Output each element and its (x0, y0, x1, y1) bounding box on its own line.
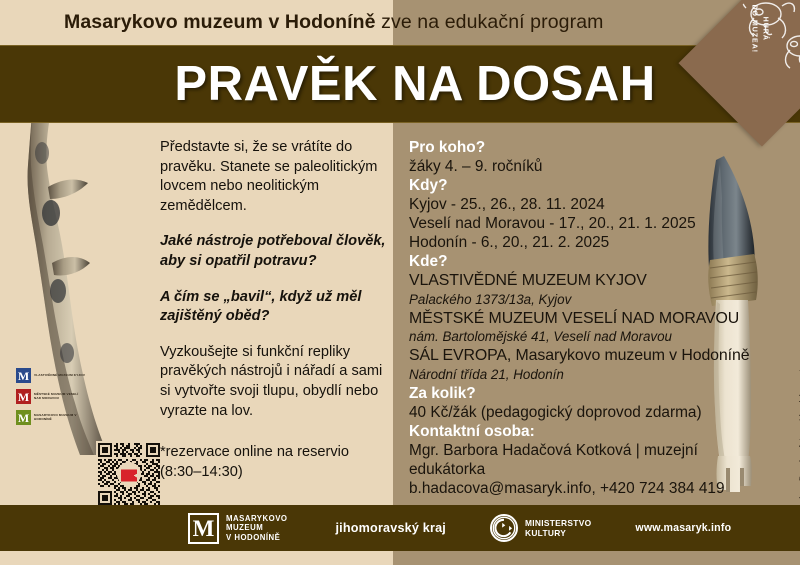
poster: Masarykovo muzeum v Hodoníně zve na eduk… (0, 0, 800, 565)
contact-details: b.hadacova@masaryk.info, +420 724 384 41… (409, 479, 761, 498)
qr-code[interactable] (96, 441, 162, 507)
label-price: Za kolik? (409, 384, 761, 403)
ministry-name: MINISTERSTVO KULTURY (525, 518, 591, 538)
value-price: 40 Kč/žák (pedagogický doprovod zdarma) (409, 403, 761, 422)
info-column: Pro koho? žáky 4. – 9. ročníků Kdy? Kyjo… (409, 138, 761, 498)
label-contact: Kontaktní osoba: (409, 422, 761, 441)
venue-address-0: Palackého 1373/13a, Kyjov (409, 291, 761, 309)
partner-name-2: MASARYKOVO MUZEUM V HODONÍNĚ (34, 414, 86, 422)
masaryk-museum-name: MASARYKOVO MUZEUM V HODONÍNĚ (226, 514, 287, 543)
label-when: Kdy? (409, 176, 761, 195)
masaryk-museum-logo: M MASARYKOVO MUZEUM V HODONÍNĚ (188, 513, 287, 544)
header-title: Masarykovo muzeum v Hodoníně zve na eduk… (64, 11, 603, 34)
ministry-of-culture-logo: MINISTERSTVO KULTURY (490, 514, 591, 542)
header-bar: Masarykovo muzeum v Hodoníně zve na eduk… (0, 0, 800, 45)
title-bar: PRAVĚK NA DOSAH (0, 45, 800, 123)
partner-logos: M VLASTIVĚDNÉ MUZEUM KYJOV M MĚSTSKÉ MUZ… (16, 368, 86, 431)
venue-name-2: SÁL EVROPA, Masarykovo muzeum v Hodoníně (409, 346, 761, 366)
when-date-hodonin: Hodonín - 6., 20., 21. 2. 2025 (409, 233, 761, 252)
ribbon-line-1: HURÁ (759, 0, 770, 64)
reservation-note: *rezervace online na reservio (8:30–14:3… (160, 443, 396, 482)
partner-logo-hodonin: M MASARYKOVO MUZEUM V HODONÍNĚ (16, 410, 86, 425)
label-for-whom: Pro koho? (409, 138, 761, 157)
partner-mark-2: M (18, 412, 29, 424)
page-title: PRAVĚK NA DOSAH (174, 56, 655, 112)
ribbon-line-2: DO MUZEA! (748, 0, 759, 64)
partner-name-1: MĚSTSKÉ MUZEUM VESELÍ NAD MORAVOU (34, 393, 86, 401)
partner-logo-veseli: M MĚSTSKÉ MUZEUM VESELÍ NAD MORAVOU (16, 389, 86, 404)
museum-name-line-1: MASARYKOVO (226, 514, 287, 524)
ministry-line-2: KULTURY (525, 528, 591, 538)
region-logo-jihomoravsky-kraj: jihomoravský kraj (335, 521, 446, 535)
museum-name-line-2: MUZEUM (226, 523, 287, 533)
when-date-veseli: Veselí nad Moravou - 17., 20., 21. 1. 20… (409, 214, 761, 233)
when-date-kyjov: Kyjov - 25., 26., 28. 11. 2024 (409, 195, 761, 214)
footer-strip-left (0, 551, 393, 565)
activity-paragraph: Vyzkoušejte si funkční repliky pravěkých… (160, 343, 390, 421)
venue-name-0: VLASTIVĚDNÉ MUZEUM KYJOV (409, 271, 761, 291)
partner-mark-1: M (18, 391, 29, 403)
contact-name: Mgr. Barbora Hadačová Kotková | muzejní … (409, 441, 761, 479)
intro-paragraph: Představte si, že se vrátíte do pravěku.… (160, 138, 390, 216)
venue-address-1: nám. Bartolomějské 41, Veselí nad Moravo… (409, 328, 761, 346)
partner-mark-0: M (18, 370, 29, 382)
venue-address-2: Národní třída 21, Hodonín (409, 366, 761, 384)
museum-m-mark-icon: M (16, 368, 31, 383)
ministry-circle-icon (490, 514, 518, 542)
footer-bar: M MASARYKOVO MUZEUM V HODONÍNĚ jihomorav… (0, 505, 800, 551)
left-text-column: Představte si, že se vrátíte do pravěku.… (160, 138, 390, 421)
museum-m-mark-icon: M (16, 410, 31, 425)
reservation-line-1: *rezervace online na reservio (160, 443, 396, 463)
label-where: Kde? (409, 252, 761, 271)
partner-name-0: VLASTIVĚDNÉ MUZEUM KYJOV (34, 374, 85, 378)
reservation-line-2: (8:30–14:30) (160, 463, 396, 483)
masaryk-m-mark-icon: M (188, 513, 219, 544)
footer-strip-right (393, 551, 800, 565)
museum-m-mark-icon: M (16, 389, 31, 404)
partner-logo-kyjov: M VLASTIVĚDNÉ MUZEUM KYJOV (16, 368, 86, 383)
ribbon-text: HURÁ DO MUZEA! (748, 0, 770, 64)
header-title-rest: zve na edukační program (376, 11, 604, 33)
website-url[interactable]: www.masaryk.info (635, 522, 731, 534)
value-for-whom: žáky 4. – 9. ročníků (409, 157, 761, 176)
footer-museum-mark: M (193, 517, 215, 540)
question-two: A čím se „bavil“, když už měl zajištěný … (160, 288, 390, 327)
venue-name-1: MĚSTSKÉ MUZEUM VESELÍ NAD MORAVOU (409, 309, 761, 329)
ministry-line-1: MINISTERSTVO (525, 518, 591, 528)
museum-name-line-3: V HODONÍNĚ (226, 533, 287, 543)
question-one: Jaké nástroje potřeboval člověk, aby si … (160, 232, 390, 271)
header-title-bold: Masarykovo muzeum v Hodoníně (64, 11, 376, 33)
